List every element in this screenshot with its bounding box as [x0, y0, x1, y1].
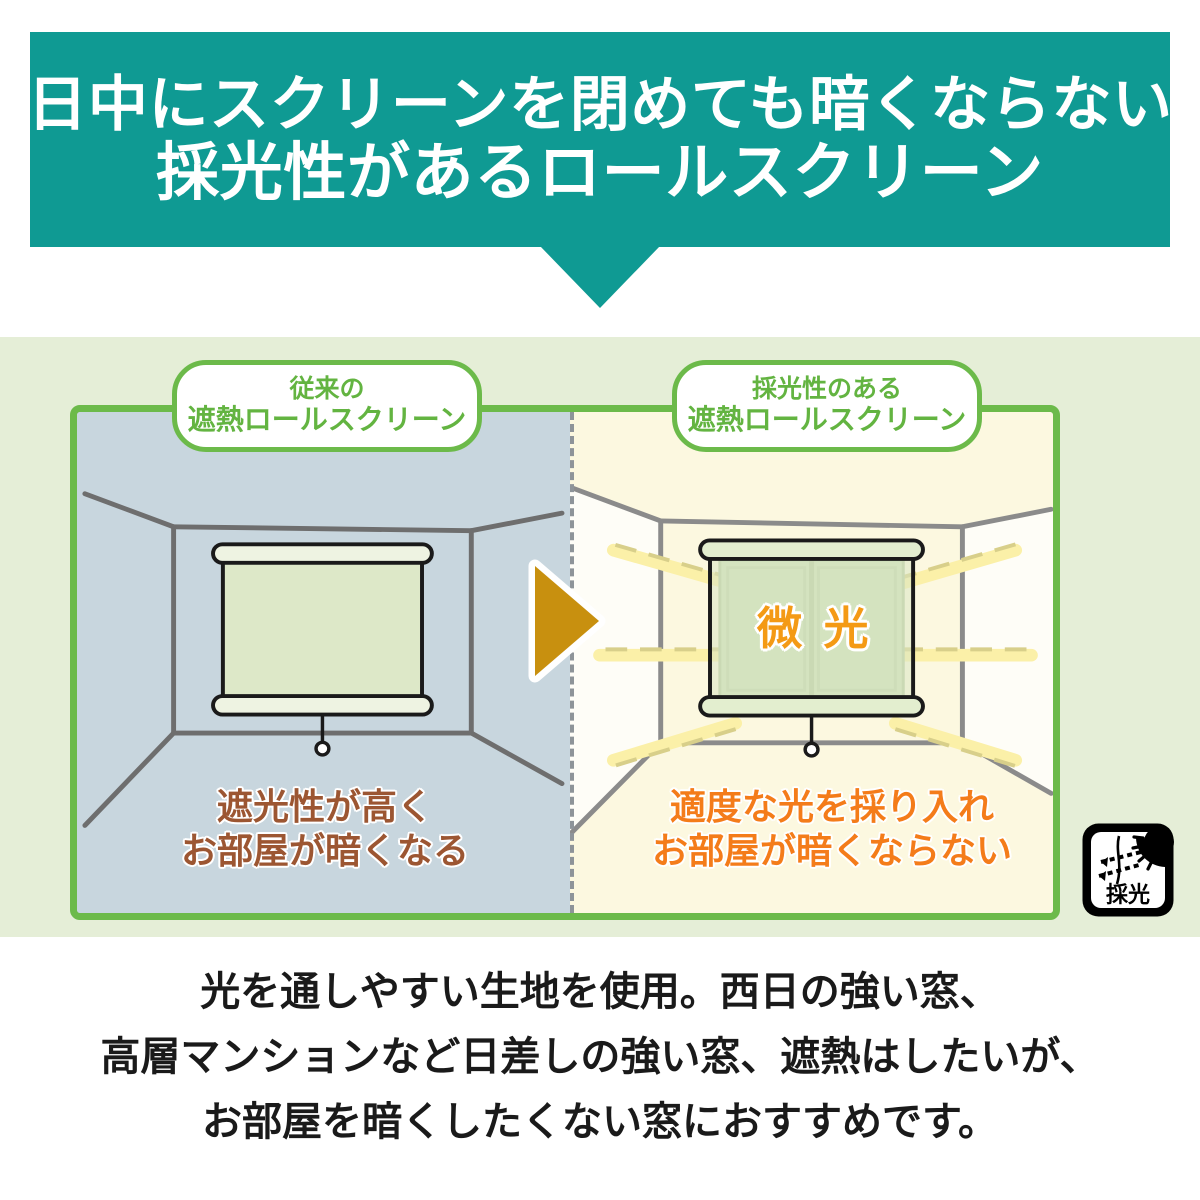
bubble-left-line-1: 従来の [289, 375, 364, 404]
comparison-arrow [519, 556, 609, 686]
caption-left-line-2: お部屋が暗くなる [90, 829, 560, 873]
caption-daylight: 適度な光を採り入れ お部屋が暗くならない [612, 785, 1052, 873]
header-speech-tail [540, 246, 660, 308]
caption-right-line-1: 適度な光を採り入れ [612, 785, 1052, 829]
footer-line-3: お部屋を暗くしたくない窓におすすめです。 [0, 1090, 1200, 1155]
footer-line-1: 光を通しやすい生地を使用。西日の強い窓、 [0, 960, 1200, 1025]
label-bubble-conventional: 従来の 遮熱ロールスクリーン [172, 360, 482, 452]
bubble-left-line-2: 遮熱ロールスクリーン [188, 404, 467, 436]
header-banner: 日中にスクリーンを閉めても暗くならない 採光性があるロールスクリーン [30, 32, 1170, 247]
bubble-right-line-2: 遮熱ロールスクリーン [688, 404, 967, 436]
badge-label: 採光 [1106, 882, 1150, 907]
footer-description: 光を通しやすい生地を使用。西日の強い窓、 高層マンションなど日差しの強い窓、遮熱… [0, 960, 1200, 1154]
header-title-line-2: 採光性があるロールスクリーン [156, 138, 1044, 209]
right-arrow-icon [519, 556, 609, 686]
header-title-line-1: 日中にスクリーンを閉めても暗くならない [27, 71, 1172, 138]
label-bubble-daylight: 採光性のある 遮熱ロールスクリーン [672, 360, 982, 452]
footer-line-2: 高層マンションなど日差しの強い窓、遮熱はしたいが、 [0, 1025, 1200, 1090]
caption-conventional: 遮光性が高く お部屋が暗くなる [90, 785, 560, 873]
bubble-right-line-1: 採光性のある [752, 375, 902, 404]
faint-light-label: 微 光 [745, 592, 885, 657]
caption-left-line-1: 遮光性が高く [90, 785, 560, 829]
daylighting-badge-icon: 採光 [1081, 822, 1175, 918]
daylighting-badge: 採光 [1081, 822, 1175, 918]
caption-right-line-2: お部屋が暗くならない [612, 829, 1052, 873]
